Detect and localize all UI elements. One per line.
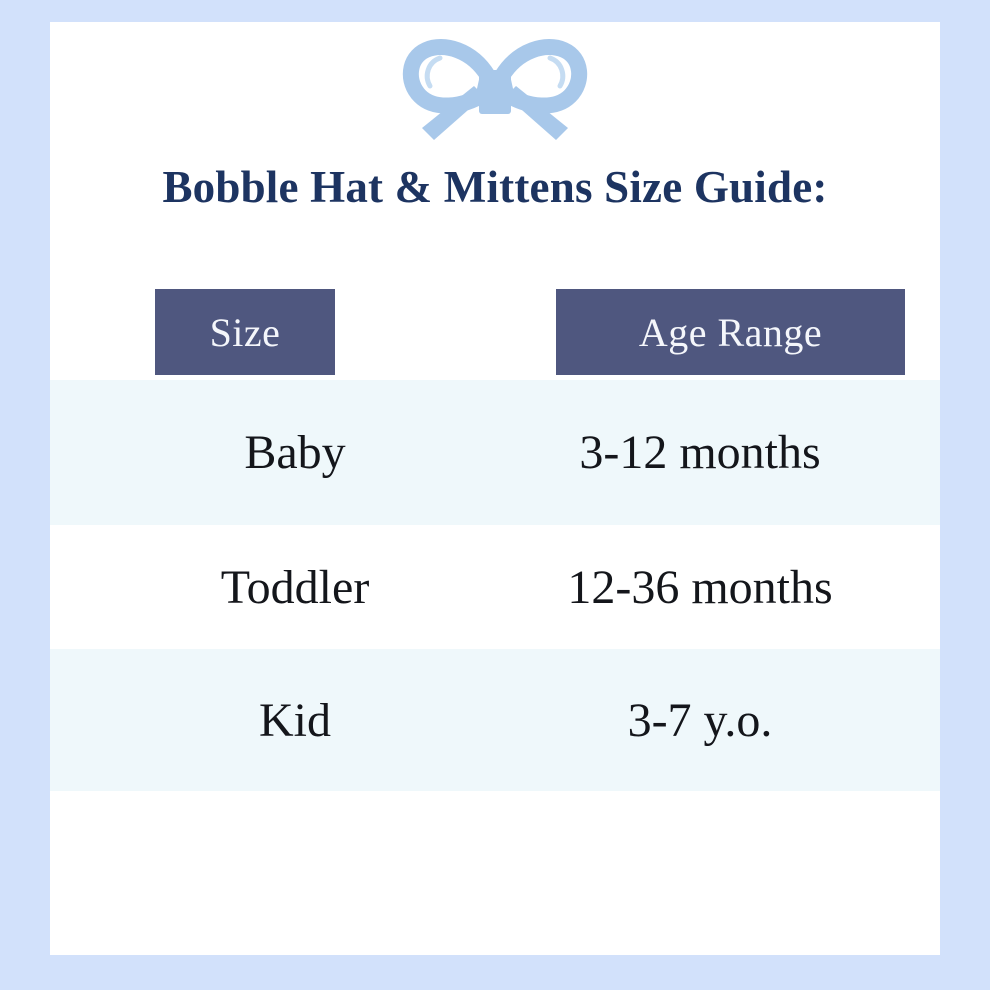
bow-decoration	[50, 32, 940, 157]
cell-age-range: 12-36 months	[485, 560, 915, 615]
size-guide-card: Bobble Hat & Mittens Size Guide: Size Ag…	[50, 22, 940, 955]
cell-size: Toddler	[105, 560, 485, 615]
table-header-row: Size Age Range	[50, 289, 940, 375]
table-row: Baby 3-12 months	[50, 380, 940, 525]
table-row: Toddler 12-36 months	[50, 525, 940, 649]
column-header-age-range: Age Range	[556, 289, 905, 375]
page-title: Bobble Hat & Mittens Size Guide:	[50, 162, 940, 214]
cell-age-range: 3-12 months	[485, 425, 915, 480]
column-header-size: Size	[155, 289, 335, 375]
cell-age-range: 3-7 y.o.	[485, 693, 915, 748]
table-row: Kid 3-7 y.o.	[50, 649, 940, 791]
cell-size: Baby	[105, 425, 485, 480]
table-bottom-spacer	[50, 791, 940, 955]
cell-size: Kid	[105, 693, 485, 748]
ribbon-bow-icon	[400, 36, 590, 154]
